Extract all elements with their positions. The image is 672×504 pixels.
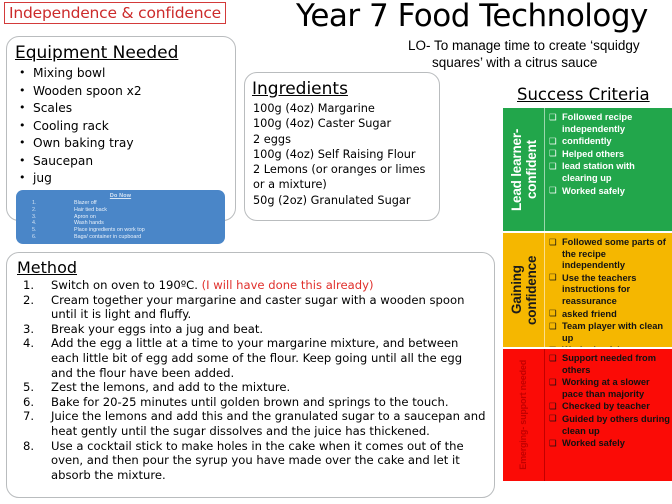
band-label: Lead learner- confident bbox=[503, 108, 545, 231]
list-item: confidently bbox=[549, 136, 670, 148]
success-band-lead-learner: Lead learner- confident Followed recipe … bbox=[503, 108, 672, 231]
band-label-text: Emerging- support needed bbox=[516, 360, 531, 470]
list-item: 100g (4oz) Self Raising Flour bbox=[253, 147, 433, 162]
equipment-list: Mixing bowl Wooden spoon x2 Scales Cooli… bbox=[7, 65, 235, 188]
list-item: Use a cocktail stick to make holes in th… bbox=[21, 439, 486, 483]
list-item: Cream together your margarine and caster… bbox=[21, 293, 486, 322]
list-item: Worked safely bbox=[549, 345, 670, 347]
list-item: Working at a slower pace than majority bbox=[549, 377, 670, 400]
criteria-list: Followed some parts of the recipe indepe… bbox=[549, 237, 670, 347]
list-item: 2 eggs bbox=[253, 132, 433, 147]
list-item: Followed recipe independently bbox=[549, 112, 670, 135]
method-step-text: Switch on oven to 190ºC. bbox=[51, 278, 198, 292]
list-item: Wash hands bbox=[32, 220, 225, 227]
list-item: Juice the lemons and add this and the gr… bbox=[21, 409, 486, 438]
ingredients-card: Ingredients 100g (4oz) Margarine 100g (4… bbox=[244, 72, 440, 221]
list-item: Saucepan bbox=[17, 153, 235, 171]
list-item: Team player with clean up bbox=[549, 321, 670, 344]
list-item: asked friend bbox=[549, 309, 670, 321]
band-label-text: Lead learner- confident bbox=[509, 108, 539, 231]
list-item: Cooling rack bbox=[17, 118, 235, 136]
list-item: Use the teachers instructions for reassu… bbox=[549, 273, 670, 308]
method-step-text: Use a cocktail stick to make holes in th… bbox=[51, 439, 464, 482]
do-now-list: Blazer off Hair tied back Apron on Wash … bbox=[16, 200, 225, 241]
list-item: Hair tied back bbox=[32, 207, 225, 214]
method-step-text: Bake for 20-25 minutes until golden brow… bbox=[51, 395, 449, 409]
band-items: Followed recipe independently confidentl… bbox=[545, 108, 672, 231]
list-item: 50g (2oz) Granulated Sugar bbox=[253, 193, 433, 208]
learning-objective-line2: squares’ with a citrus sauce bbox=[432, 55, 597, 70]
list-item: Mixing bowl bbox=[17, 65, 235, 83]
band-items: Support needed from others Working at a … bbox=[545, 349, 672, 481]
list-item: Checked by teacher bbox=[549, 401, 670, 413]
list-item: Helped others bbox=[549, 149, 670, 161]
method-step-text: Juice the lemons and add this and the gr… bbox=[51, 409, 485, 438]
slide-canvas: Independence & confidence Year 7 Food Te… bbox=[0, 0, 672, 504]
list-item: lead station with clearing up bbox=[549, 161, 670, 184]
success-band-gaining-confidence: Gaining confidence Followed some parts o… bbox=[503, 233, 672, 347]
success-band-emerging: Emerging- support needed Support needed … bbox=[503, 349, 672, 481]
list-item: Worked safely bbox=[549, 186, 670, 198]
list-item: jug bbox=[17, 170, 235, 188]
banner-text: Independence & confidence bbox=[5, 4, 221, 22]
band-label: Emerging- support needed bbox=[503, 349, 545, 481]
method-step-text: Cream together your margarine and caster… bbox=[51, 293, 464, 322]
ingredients-list: 100g (4oz) Margarine 100g (4oz) Caster S… bbox=[245, 101, 439, 208]
method-step-text: Add the egg a little at a time to your m… bbox=[51, 336, 462, 379]
criteria-list: Followed recipe independently confidentl… bbox=[549, 112, 670, 197]
method-card: Method Switch on oven to 190ºC. (I will … bbox=[6, 252, 495, 498]
band-label: Gaining confidence bbox=[503, 233, 545, 347]
list-item: Guided by others during clean up bbox=[549, 414, 670, 437]
method-list: Switch on oven to 190ºC. (I will have do… bbox=[7, 278, 494, 482]
do-now-title: Do Now bbox=[16, 193, 225, 199]
list-item: Scales bbox=[17, 100, 235, 118]
method-step-text: Zest the lemons, and add to the mixture. bbox=[51, 380, 290, 394]
method-step-text: Break your eggs into a jug and beat. bbox=[51, 322, 263, 336]
list-item: 100g (4oz) Caster Sugar bbox=[253, 116, 433, 131]
list-item: Bags/ container in cupboard bbox=[32, 234, 225, 241]
list-item: Wooden spoon x2 bbox=[17, 83, 235, 101]
list-item: 100g (4oz) Margarine bbox=[253, 101, 433, 116]
list-item: Add the egg a little at a time to your m… bbox=[21, 336, 486, 380]
list-item: Blazer off bbox=[32, 200, 225, 207]
list-item: Own baking tray bbox=[17, 135, 235, 153]
page-title: Year 7 Food Technology bbox=[296, 0, 648, 34]
list-item: Place ingredients on work top bbox=[32, 227, 225, 234]
list-item: Apron on bbox=[32, 214, 225, 221]
list-item: 2 Lemons (or oranges or limes or a mixtu… bbox=[253, 162, 433, 193]
list-item: Break your eggs into a jug and beat. bbox=[21, 322, 486, 337]
band-label-text: Gaining confidence bbox=[509, 233, 539, 347]
method-step-note: (I will have done this already) bbox=[202, 278, 374, 292]
list-item: Zest the lemons, and add to the mixture. bbox=[21, 380, 486, 395]
band-items: Followed some parts of the recipe indepe… bbox=[545, 233, 672, 347]
list-item: Worked safely bbox=[549, 438, 670, 450]
list-item: Switch on oven to 190ºC. (I will have do… bbox=[21, 278, 486, 293]
independence-banner: Independence & confidence bbox=[4, 2, 226, 24]
equipment-heading: Equipment Needed bbox=[15, 43, 235, 63]
success-criteria-title: Success Criteria bbox=[517, 85, 650, 104]
do-now-box: Do Now Blazer off Hair tied back Apron o… bbox=[16, 190, 225, 244]
ingredients-heading: Ingredients bbox=[252, 79, 439, 99]
criteria-list: Support needed from others Working at a … bbox=[549, 353, 670, 450]
method-heading: Method bbox=[17, 258, 494, 277]
list-item: Followed some parts of the recipe indepe… bbox=[549, 237, 670, 272]
learning-objective-line1: LO- To manage time to create ‘squidgy bbox=[408, 36, 672, 55]
list-item: Bake for 20-25 minutes until golden brow… bbox=[21, 395, 486, 410]
list-item: Support needed from others bbox=[549, 353, 670, 376]
